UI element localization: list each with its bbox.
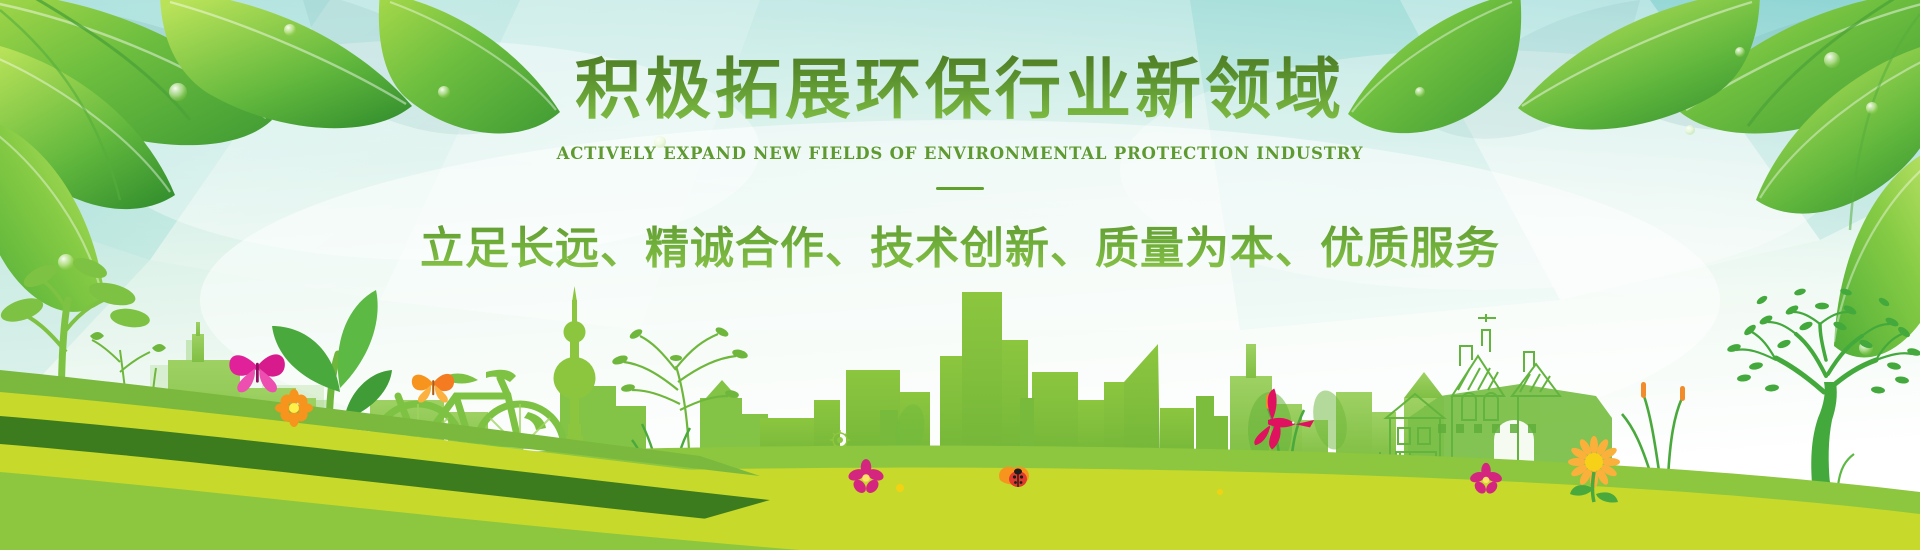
foreground-accents — [0, 0, 1920, 550]
ladybug — [999, 467, 1029, 487]
sunflower — [1568, 436, 1620, 503]
flower-magenta-2 — [1469, 463, 1504, 496]
flower-magenta — [847, 459, 885, 495]
flower-orange — [275, 389, 313, 427]
butterfly-magenta — [229, 354, 284, 392]
hummingbird — [1254, 389, 1314, 450]
butterfly-orange — [412, 374, 454, 403]
puff-flower — [830, 430, 850, 450]
tiny-flower-yellow — [896, 484, 1223, 495]
eco-banner: 积极拓展环保行业新领域 ACTIVELY EXPAND NEW FIELDS O… — [0, 0, 1920, 550]
